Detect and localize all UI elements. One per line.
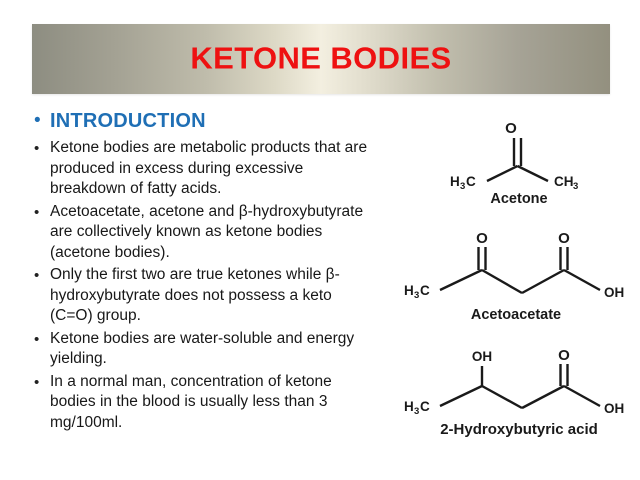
- bullet-dot-icon: •: [28, 108, 50, 134]
- svg-text:OH: OH: [604, 285, 624, 300]
- list-item: • Acetoacetate, acetone and β-hydroxybut…: [28, 202, 378, 264]
- list-item-text: Acetoacetate, acetone and β-hydroxybutyr…: [50, 202, 378, 264]
- page-title: KETONE BODIES: [32, 40, 610, 76]
- list-item-text: In a normal man, concentration of ketone…: [50, 372, 378, 434]
- acetoacetate-molecule-icon: O O H 3 C OH: [398, 228, 634, 306]
- acetoacetate-label: Acetoacetate: [398, 307, 634, 323]
- list-item-text: Ketone bodies are metabolic products tha…: [50, 138, 378, 200]
- list-item-text: INTRODUCTION: [50, 108, 378, 134]
- svg-text:OH: OH: [604, 401, 624, 416]
- svg-text:3: 3: [573, 181, 578, 190]
- list-item: • Only the first two are true ketones wh…: [28, 265, 378, 327]
- hydroxybutyric-acid-label: 2-Hydroxybutyric acid: [398, 421, 640, 438]
- acetone-molecule-icon: O H 3 C CH 3: [408, 114, 630, 190]
- hydroxybutyric-acid-structure-figure: OH O H 3 C OH 2-Hydroxybutyric acid: [398, 346, 640, 438]
- svg-text:H: H: [450, 174, 460, 189]
- svg-text:3: 3: [414, 406, 419, 417]
- svg-text:O: O: [558, 230, 570, 247]
- acetoacetate-structure-figure: O O H 3 C OH Acetoacetate: [398, 228, 634, 323]
- slide: KETONE BODIES • INTRODUCTION • Ketone bo…: [0, 0, 640, 480]
- svg-text:H: H: [404, 399, 414, 414]
- acetone-label: Acetone: [408, 191, 630, 207]
- svg-text:C: C: [466, 174, 476, 189]
- hydroxybutyric-acid-molecule-icon: OH O H 3 C OH: [398, 346, 640, 420]
- svg-text:C: C: [420, 399, 430, 414]
- list-item-text: Ketone bodies are water-soluble and ener…: [50, 329, 378, 370]
- svg-text:CH: CH: [554, 174, 574, 189]
- list-item: • Ketone bodies are metabolic products t…: [28, 138, 378, 200]
- svg-text:O: O: [505, 120, 517, 137]
- svg-text:O: O: [558, 347, 570, 364]
- list-item-text: Only the first two are true ketones whil…: [50, 265, 378, 327]
- acetone-structure-figure: O H 3 C CH 3 Acetone: [408, 114, 630, 207]
- svg-text:OH: OH: [472, 349, 492, 364]
- bullet-list: • INTRODUCTION • Ketone bodies are metab…: [28, 108, 378, 435]
- list-item: • In a normal man, concentration of keto…: [28, 372, 378, 434]
- svg-text:H: H: [404, 283, 414, 298]
- svg-text:3: 3: [460, 181, 465, 190]
- title-banner: KETONE BODIES: [32, 24, 610, 94]
- bullet-dot-icon: •: [28, 372, 50, 393]
- bullet-dot-icon: •: [28, 138, 50, 159]
- list-item: • Ketone bodies are water-soluble and en…: [28, 329, 378, 370]
- svg-text:C: C: [420, 283, 430, 298]
- list-item: • INTRODUCTION: [28, 108, 378, 134]
- bullet-dot-icon: •: [28, 265, 50, 286]
- svg-text:3: 3: [414, 290, 419, 301]
- svg-text:O: O: [476, 230, 488, 247]
- bullet-dot-icon: •: [28, 202, 50, 223]
- bullet-dot-icon: •: [28, 329, 50, 350]
